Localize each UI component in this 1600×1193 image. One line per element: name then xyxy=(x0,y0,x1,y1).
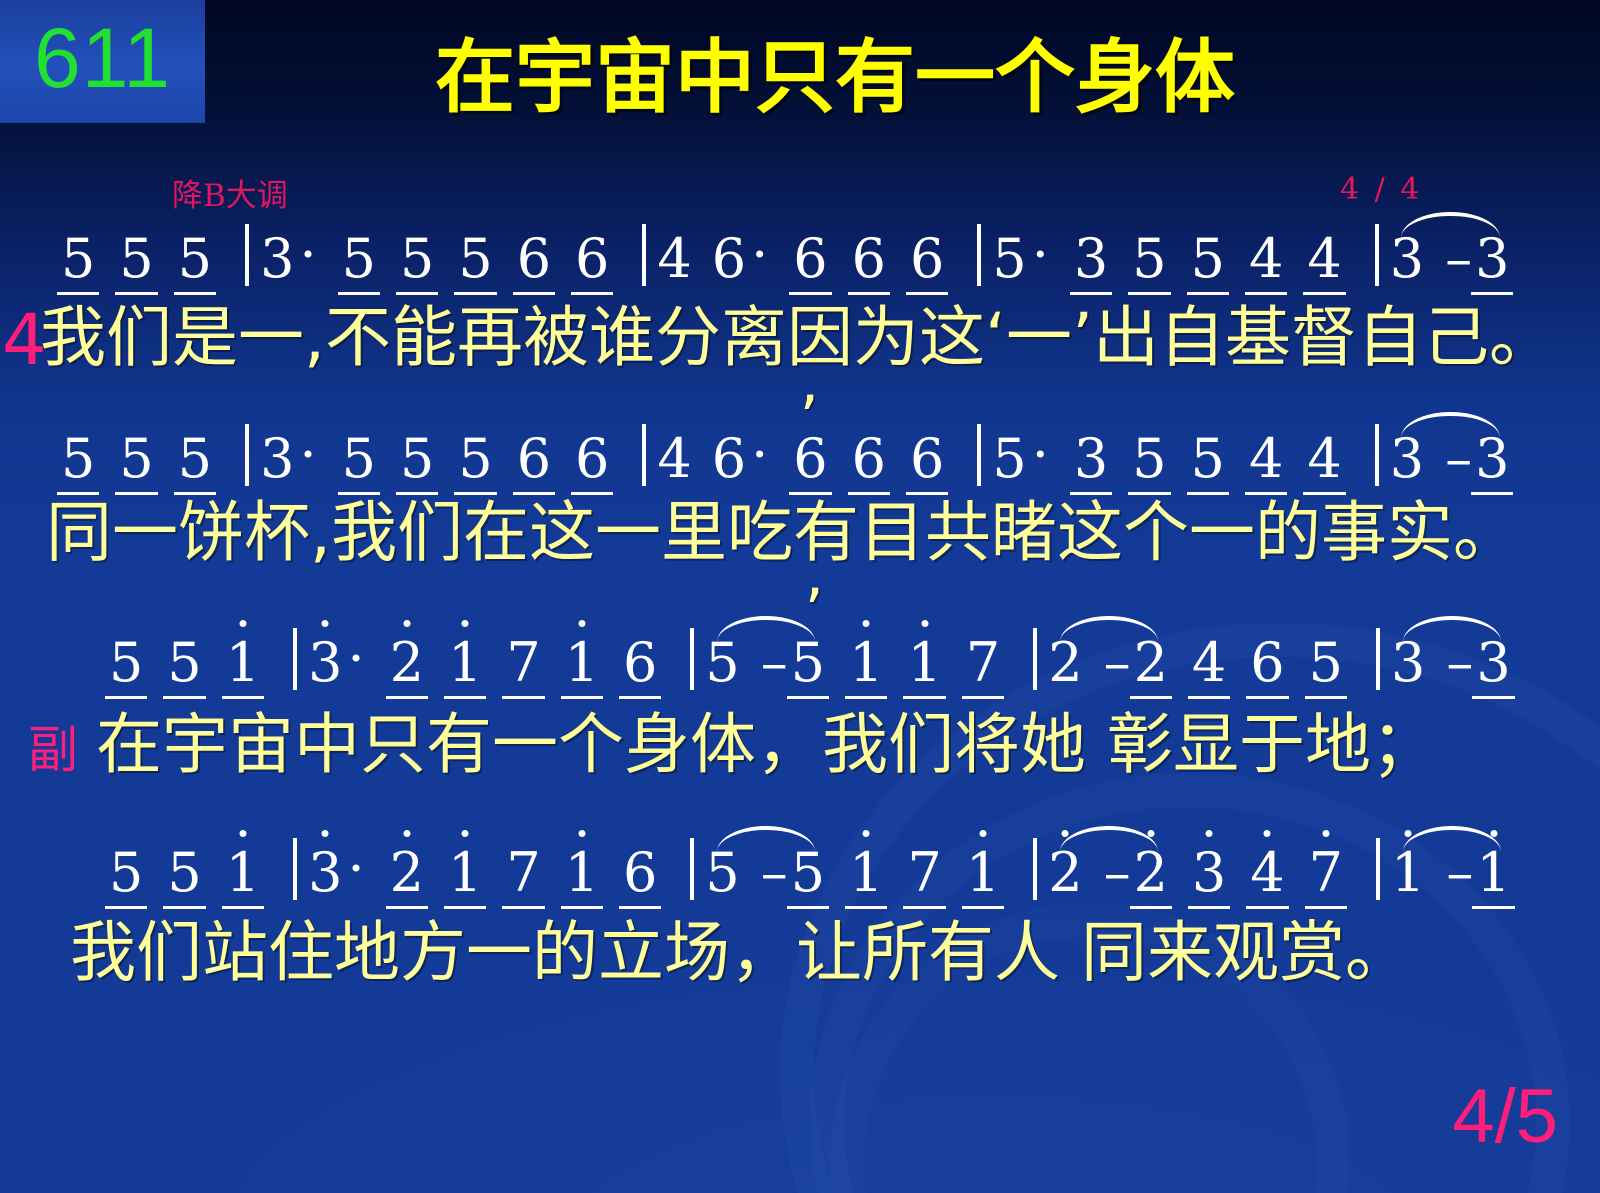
measure: 3–3 xyxy=(1390,636,1534,690)
chorus-marker: 副 xyxy=(28,725,78,775)
note-1: 1 xyxy=(447,846,483,900)
lyric-line-4: 我们站住地方一的立场，让所有人 同来观赏。 xyxy=(70,920,1411,986)
hymn-number-badge: 611 xyxy=(0,0,205,123)
octave-dot xyxy=(462,830,469,837)
note-3: 3 xyxy=(1389,432,1425,486)
key-signature: 降B大调 xyxy=(172,170,288,215)
note-3: 3 xyxy=(307,846,343,900)
note-5: 5 xyxy=(1190,232,1226,286)
augmentation-dot: · xyxy=(747,428,774,482)
measure: 5–5117 xyxy=(704,636,1023,690)
note-5: 5 xyxy=(166,846,202,900)
note-5: 5 xyxy=(399,432,435,486)
prolongation-dash: – xyxy=(759,846,790,900)
augmentation-dot: · xyxy=(343,842,370,896)
note-1: 1 xyxy=(225,636,261,690)
page-number: 4/5 xyxy=(1452,1079,1558,1155)
measure: 2–2465 xyxy=(1047,636,1366,690)
note-4: 4 xyxy=(656,432,692,486)
note-5: 5 xyxy=(60,432,96,486)
note-3: 3 xyxy=(1475,636,1511,690)
note-6: 6 xyxy=(792,232,828,286)
measure: 5–5171 xyxy=(704,846,1023,900)
measure: 3·55566 xyxy=(259,432,632,486)
barline xyxy=(1375,224,1379,286)
measure: 551 xyxy=(108,636,283,690)
note-6: 6 xyxy=(711,432,747,486)
measure: 2–2347 xyxy=(1047,846,1366,900)
note-3: 3 xyxy=(259,432,295,486)
lyric-line-1-comma: , xyxy=(800,352,819,412)
note-2: 2 xyxy=(389,846,425,900)
note-2: 2 xyxy=(1047,636,1083,690)
measure: 555 xyxy=(60,432,235,486)
measure: 3–3 xyxy=(1389,432,1533,486)
note-3: 3 xyxy=(1191,846,1227,900)
barline xyxy=(245,424,249,486)
note-5: 5 xyxy=(790,846,826,900)
barline xyxy=(690,838,694,900)
note-2: 2 xyxy=(389,636,425,690)
note-5: 5 xyxy=(991,432,1027,486)
octave-dot xyxy=(322,620,329,627)
note-3: 3 xyxy=(307,636,343,690)
barline xyxy=(293,838,297,900)
note-3: 3 xyxy=(1390,636,1426,690)
prolongation-dash: – xyxy=(1102,846,1133,900)
augmentation-dot: · xyxy=(295,228,322,282)
note-1: 1 xyxy=(848,636,884,690)
octave-dot xyxy=(980,830,987,837)
note-5: 5 xyxy=(399,232,435,286)
augmentation-dot: · xyxy=(295,428,322,482)
note-1: 1 xyxy=(965,846,1001,900)
lyric-line-3: 在宇宙中只有一个身体，我们将她 彰显于地； xyxy=(96,712,1437,778)
note-6: 6 xyxy=(851,232,887,286)
note-7: 7 xyxy=(906,846,942,900)
note-5: 5 xyxy=(108,846,144,900)
barline xyxy=(977,224,981,286)
notation-stave-1: 5553·5556646·6665·355443–3 xyxy=(60,224,1532,286)
barline xyxy=(245,224,249,286)
note-5: 5 xyxy=(1308,636,1344,690)
octave-dot xyxy=(1405,830,1412,837)
measure: 3·21716 xyxy=(307,636,680,690)
note-3: 3 xyxy=(1474,432,1510,486)
note-5: 5 xyxy=(341,432,377,486)
measure: 551 xyxy=(108,846,283,900)
augmentation-dot: · xyxy=(1028,228,1055,282)
notation-stave-2: 5553·5556646·6665·355443–3 xyxy=(60,424,1532,486)
note-1: 1 xyxy=(225,846,261,900)
note-3: 3 xyxy=(259,232,295,286)
octave-dot xyxy=(462,620,469,627)
note-2: 2 xyxy=(1133,636,1169,690)
octave-dot xyxy=(863,620,870,627)
hymn-number: 611 xyxy=(34,16,171,108)
note-4: 4 xyxy=(1248,432,1284,486)
lyric-line-1: 我们是一,不能再被谁分离因为这‘一’出自基督自己。 xyxy=(40,305,1555,371)
note-4: 4 xyxy=(1306,432,1342,486)
augmentation-dot: · xyxy=(343,632,370,686)
barline xyxy=(1033,628,1037,690)
note-5: 5 xyxy=(790,636,826,690)
note-1: 1 xyxy=(906,636,942,690)
note-4: 4 xyxy=(1191,636,1227,690)
note-6: 6 xyxy=(622,636,658,690)
barline xyxy=(977,424,981,486)
note-6: 6 xyxy=(622,846,658,900)
note-6: 6 xyxy=(909,432,945,486)
note-5: 5 xyxy=(60,232,96,286)
octave-dot xyxy=(1264,830,1271,837)
note-6: 6 xyxy=(516,432,552,486)
note-7: 7 xyxy=(505,846,541,900)
note-5: 5 xyxy=(118,432,154,486)
measure: 1–1 xyxy=(1390,846,1534,900)
prolongation-dash: – xyxy=(1443,232,1474,286)
octave-dot xyxy=(1490,830,1497,837)
octave-dot xyxy=(403,620,410,627)
octave-dot xyxy=(1206,830,1213,837)
note-7: 7 xyxy=(1308,846,1344,900)
octave-dot xyxy=(403,830,410,837)
note-4: 4 xyxy=(656,232,692,286)
barline xyxy=(293,628,297,690)
augmentation-dot: · xyxy=(747,228,774,282)
measure: 5·35544 xyxy=(991,432,1364,486)
barline xyxy=(690,628,694,690)
octave-dot xyxy=(322,830,329,837)
lyric-line-2-comma: , xyxy=(805,545,824,605)
note-5: 5 xyxy=(1190,432,1226,486)
note-4: 4 xyxy=(1248,232,1284,286)
barline xyxy=(1033,838,1037,900)
prolongation-dash: – xyxy=(1102,636,1133,690)
note-6: 6 xyxy=(909,232,945,286)
note-6: 6 xyxy=(1249,636,1285,690)
barline xyxy=(642,424,646,486)
octave-dot xyxy=(578,830,585,837)
note-6: 6 xyxy=(574,232,610,286)
note-3: 3 xyxy=(1073,232,1109,286)
note-1: 1 xyxy=(1475,846,1511,900)
octave-dot xyxy=(1322,830,1329,837)
note-5: 5 xyxy=(177,232,213,286)
notation-stave-4: 5513·217165–51712–23471–1 xyxy=(108,838,1534,900)
note-2: 2 xyxy=(1047,846,1083,900)
barline xyxy=(1376,628,1380,690)
note-6: 6 xyxy=(711,232,747,286)
note-2: 2 xyxy=(1133,846,1169,900)
note-1: 1 xyxy=(564,636,600,690)
measure: 46·666 xyxy=(656,432,967,486)
note-6: 6 xyxy=(574,432,610,486)
measure: 555 xyxy=(60,232,235,286)
note-5: 5 xyxy=(118,232,154,286)
barline xyxy=(1375,424,1379,486)
lyric-line-2: 同一饼杯,我们在这一里吃有目共睹这个一的事实。 xyxy=(46,500,1519,566)
octave-dot xyxy=(578,620,585,627)
measure: 3–3 xyxy=(1389,232,1533,286)
time-signature: 4 / 4 xyxy=(1340,172,1422,207)
note-6: 6 xyxy=(851,432,887,486)
barline xyxy=(642,224,646,286)
prolongation-dash: – xyxy=(1443,432,1474,486)
note-5: 5 xyxy=(166,636,202,690)
octave-dot xyxy=(1062,830,1069,837)
hymn-slide: 611 在宇宙中只有一个身体 降B大调 4 / 4 5553·5556646·6… xyxy=(0,0,1600,1193)
barline xyxy=(1376,838,1380,900)
octave-dot xyxy=(1147,830,1154,837)
note-5: 5 xyxy=(457,432,493,486)
prolongation-dash: – xyxy=(1444,846,1475,900)
note-3: 3 xyxy=(1073,432,1109,486)
prolongation-dash: – xyxy=(1444,636,1475,690)
note-1: 1 xyxy=(848,846,884,900)
note-5: 5 xyxy=(177,432,213,486)
note-1: 1 xyxy=(447,636,483,690)
note-1: 1 xyxy=(1390,846,1426,900)
octave-dot xyxy=(863,830,870,837)
note-5: 5 xyxy=(1131,232,1167,286)
note-5: 5 xyxy=(457,232,493,286)
octave-dot xyxy=(239,620,246,627)
note-5: 5 xyxy=(341,232,377,286)
measure: 3·21716 xyxy=(307,846,680,900)
note-5: 5 xyxy=(108,636,144,690)
measure: 46·666 xyxy=(656,232,967,286)
note-4: 4 xyxy=(1249,846,1285,900)
note-5: 5 xyxy=(704,846,740,900)
measure: 3·55566 xyxy=(259,232,632,286)
note-6: 6 xyxy=(792,432,828,486)
notation-stave-3: 5513·217165–51172–24653–3 xyxy=(108,628,1534,690)
note-6: 6 xyxy=(516,232,552,286)
augmentation-dot: · xyxy=(1028,428,1055,482)
note-5: 5 xyxy=(991,232,1027,286)
note-4: 4 xyxy=(1306,232,1342,286)
note-5: 5 xyxy=(704,636,740,690)
note-3: 3 xyxy=(1389,232,1425,286)
note-1: 1 xyxy=(564,846,600,900)
note-7: 7 xyxy=(505,636,541,690)
octave-dot xyxy=(239,830,246,837)
octave-dot xyxy=(921,620,928,627)
note-5: 5 xyxy=(1131,432,1167,486)
page-title: 在宇宙中只有一个身体 xyxy=(330,38,1340,118)
note-7: 7 xyxy=(965,636,1001,690)
prolongation-dash: – xyxy=(759,636,790,690)
measure: 5·35544 xyxy=(991,232,1364,286)
note-3: 3 xyxy=(1474,232,1510,286)
